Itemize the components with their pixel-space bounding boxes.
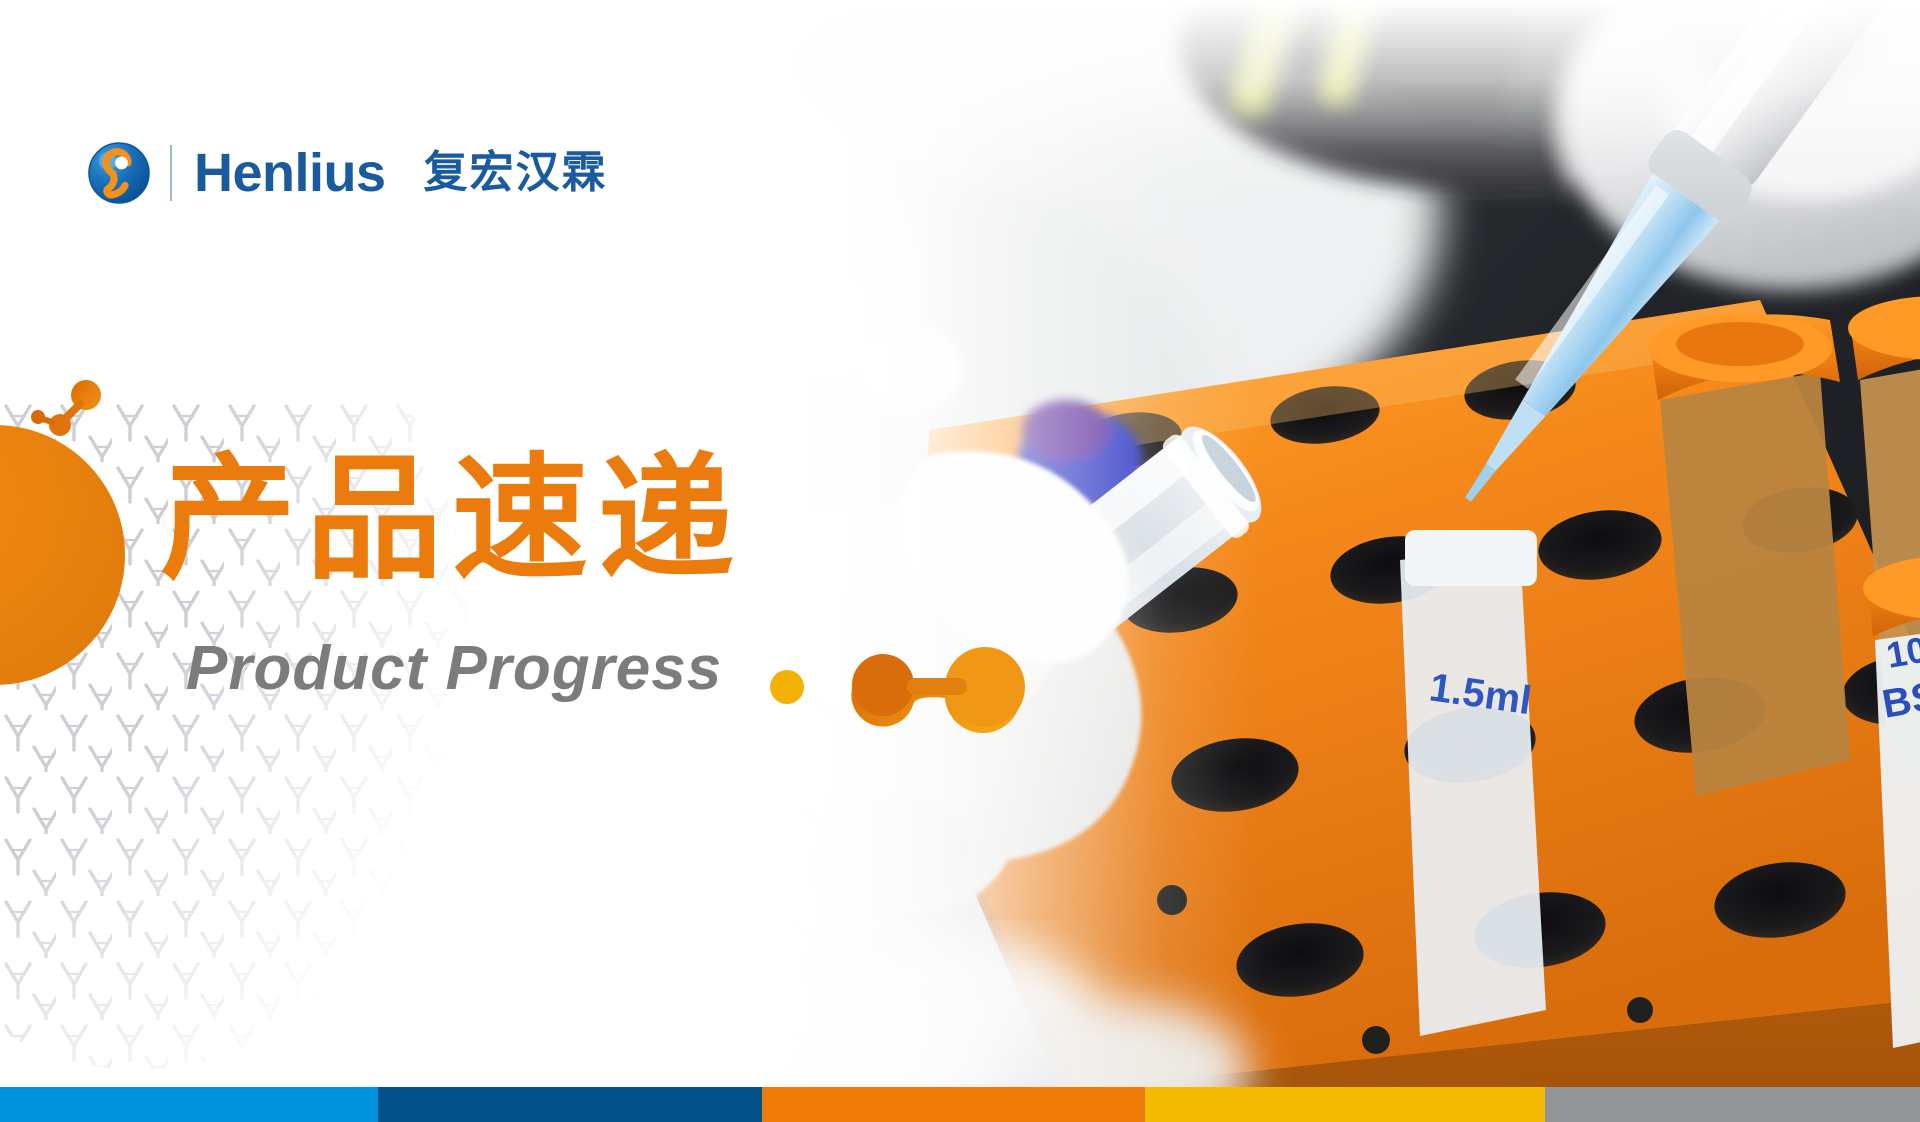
slide-root: Blood [0,0,1920,1122]
logo-chinese-name: 复宏汉霖 [424,151,608,195]
molecule-decor-large-icon [835,630,1055,740]
yellow-dot-decor [770,670,804,704]
henlius-emblem-icon [88,142,150,204]
page-title-english: Product Progress [186,638,722,700]
laboratory-pipetting-photo: Blood [780,0,1920,1090]
logo-wordmark: Henlius [194,146,386,200]
henlius-logo[interactable]: Henlius 复宏汉霖 [88,142,608,204]
bar-segment-yellow [1145,1087,1545,1122]
orange-circle-decor [0,425,125,685]
bar-segment-orange [762,1087,1145,1122]
bar-segment-light-blue [0,1087,378,1122]
logo-divider [170,145,172,201]
bar-segment-gray [1545,1087,1920,1122]
bar-segment-dark-blue [378,1087,762,1122]
page-title-chinese: 产品速递 [160,452,744,588]
bottom-color-bar [0,1087,1920,1122]
molecule-decor-small-icon [28,378,118,448]
